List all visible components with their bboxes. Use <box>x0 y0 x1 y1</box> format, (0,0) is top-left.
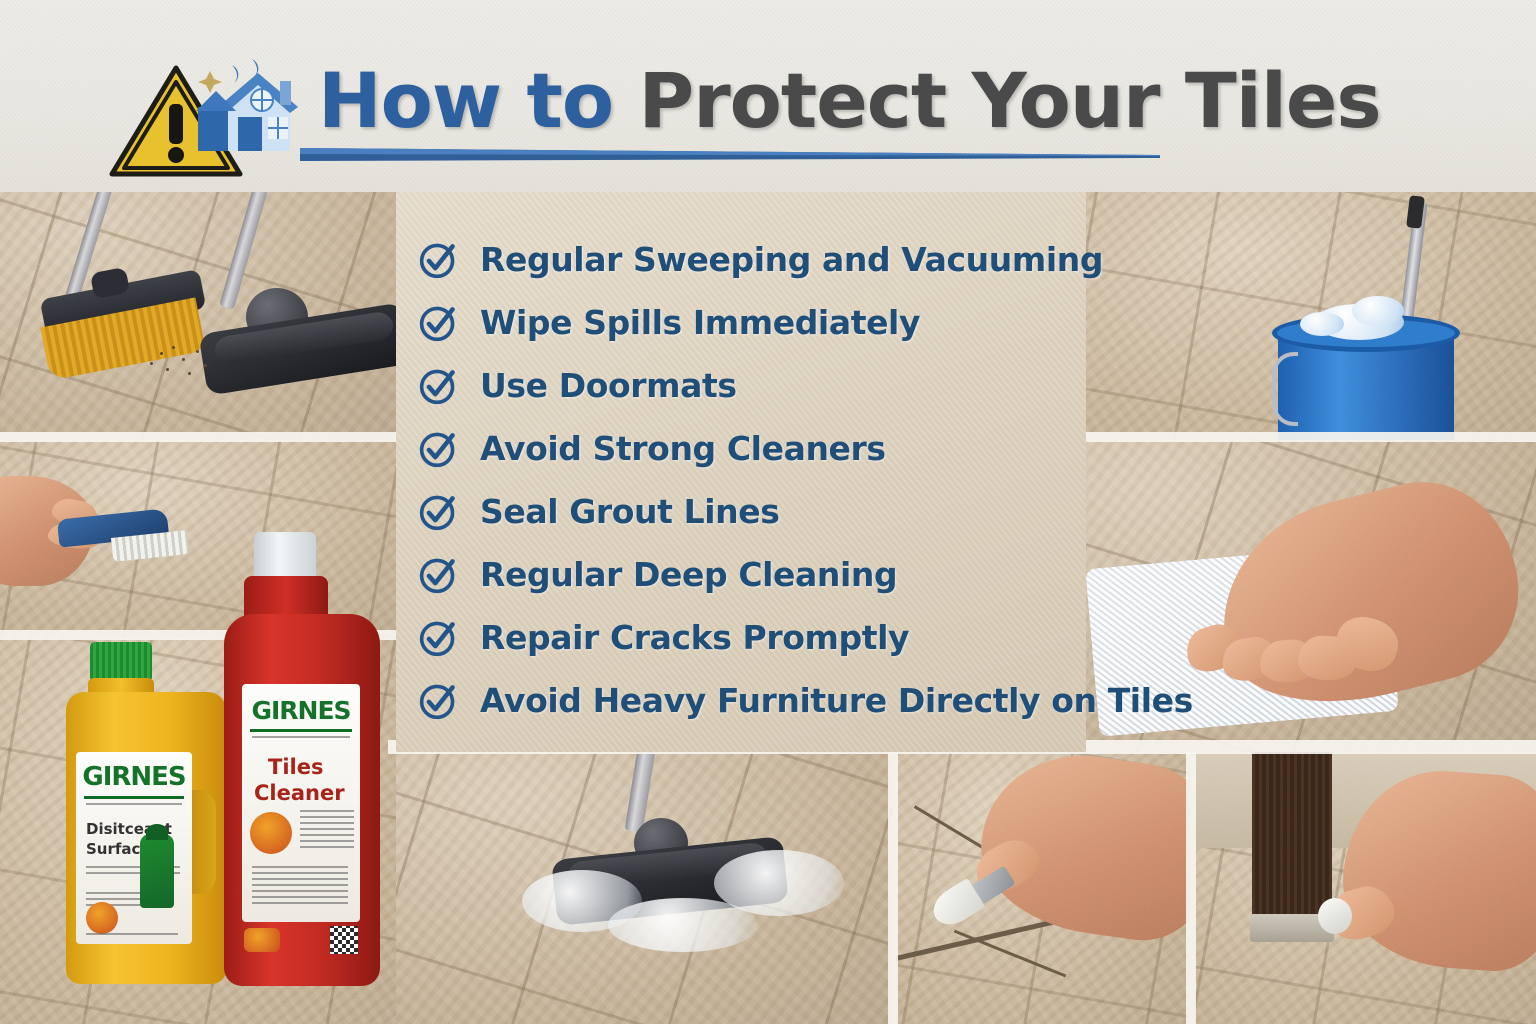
check-circle-icon <box>418 240 458 280</box>
red-bottle-brand: GIRNES <box>242 696 360 725</box>
house-icon <box>196 55 316 167</box>
checklist-item-3[interactable]: Use Doormats <box>418 354 1118 417</box>
checklist-item-1[interactable]: Regular Sweeping and Vacuuming <box>418 228 1118 291</box>
checklist-item-label: Regular Deep Cleaning <box>480 555 897 594</box>
checklist-item-label: Regular Sweeping and Vacuuming <box>480 240 1103 279</box>
check-circle-icon <box>418 429 458 469</box>
steam-mop-deep-cleaning-photo <box>396 752 892 1024</box>
checklist-item-2[interactable]: Wipe Spills Immediately <box>418 291 1118 354</box>
checklist-item-6[interactable]: Regular Deep Cleaning <box>418 543 1118 606</box>
checklist-item-4[interactable]: Avoid Strong Cleaners <box>418 417 1118 480</box>
yellow-bottle-brand: GIRNES <box>76 762 192 792</box>
checklist-item-label: Avoid Heavy Furniture Directly on Tiles <box>480 681 1193 720</box>
broom-and-vacuum-on-tile-photo <box>0 192 408 440</box>
check-circle-icon <box>418 366 458 406</box>
red-tiles-cleaner-bottle: GIRNES Tiles Cleaner <box>214 532 384 994</box>
title-part-blue: How to <box>318 56 639 145</box>
checklist-item-label: Wipe Spills Immediately <box>480 303 920 342</box>
yellow-bottle-line2: Surface <box>86 840 192 858</box>
page-title: How to Protect Your Tiles <box>318 56 1381 145</box>
repairing-tile-crack-photo <box>896 752 1190 1024</box>
check-circle-icon <box>418 618 458 658</box>
title-part-dark: Protect Your Tiles <box>639 56 1381 145</box>
checklist: Regular Sweeping and Vacuuming Wipe Spil… <box>418 228 1118 732</box>
yellow-disinfectant-bottle: GIRNES Disitceant Surface <box>62 640 232 988</box>
check-circle-icon <box>418 555 458 595</box>
furniture-leg <box>1252 752 1332 918</box>
bottle-cap-white <box>254 532 316 582</box>
yellow-bottle-line1: Disitceant <box>86 820 192 838</box>
red-bottle-line2: Cleaner <box>254 781 360 805</box>
photo-seam <box>888 752 898 1024</box>
checklist-item-5[interactable]: Seal Grout Lines <box>418 480 1118 543</box>
check-circle-icon <box>418 303 458 343</box>
check-circle-icon <box>418 681 458 721</box>
checklist-item-8[interactable]: Avoid Heavy Furniture Directly on Tiles <box>418 669 1118 732</box>
check-circle-icon <box>418 492 458 532</box>
header-banner: How to Protect Your Tiles <box>0 0 1536 192</box>
checklist-item-label: Avoid Strong Cleaners <box>480 429 886 468</box>
photo-seam <box>1186 752 1196 1024</box>
red-bottle-line1: Tiles <box>268 755 360 779</box>
bottle-cap-green <box>90 642 152 682</box>
checklist-item-7[interactable]: Repair Cracks Promptly <box>418 606 1118 669</box>
checklist-item-label: Repair Cracks Promptly <box>480 618 909 657</box>
infographic-poster: GIRNES Disitceant Surface GIRNES Tiles C… <box>0 0 1536 1024</box>
felt-pad-under-furniture-leg-photo <box>1194 752 1536 1024</box>
checklist-item-label: Seal Grout Lines <box>480 492 779 531</box>
checklist-item-label: Use Doormats <box>480 366 737 405</box>
blue-swoosh-divider <box>300 144 1160 164</box>
bucket-shoes-doormat-photo <box>1074 192 1536 444</box>
photo-seam <box>0 432 400 442</box>
